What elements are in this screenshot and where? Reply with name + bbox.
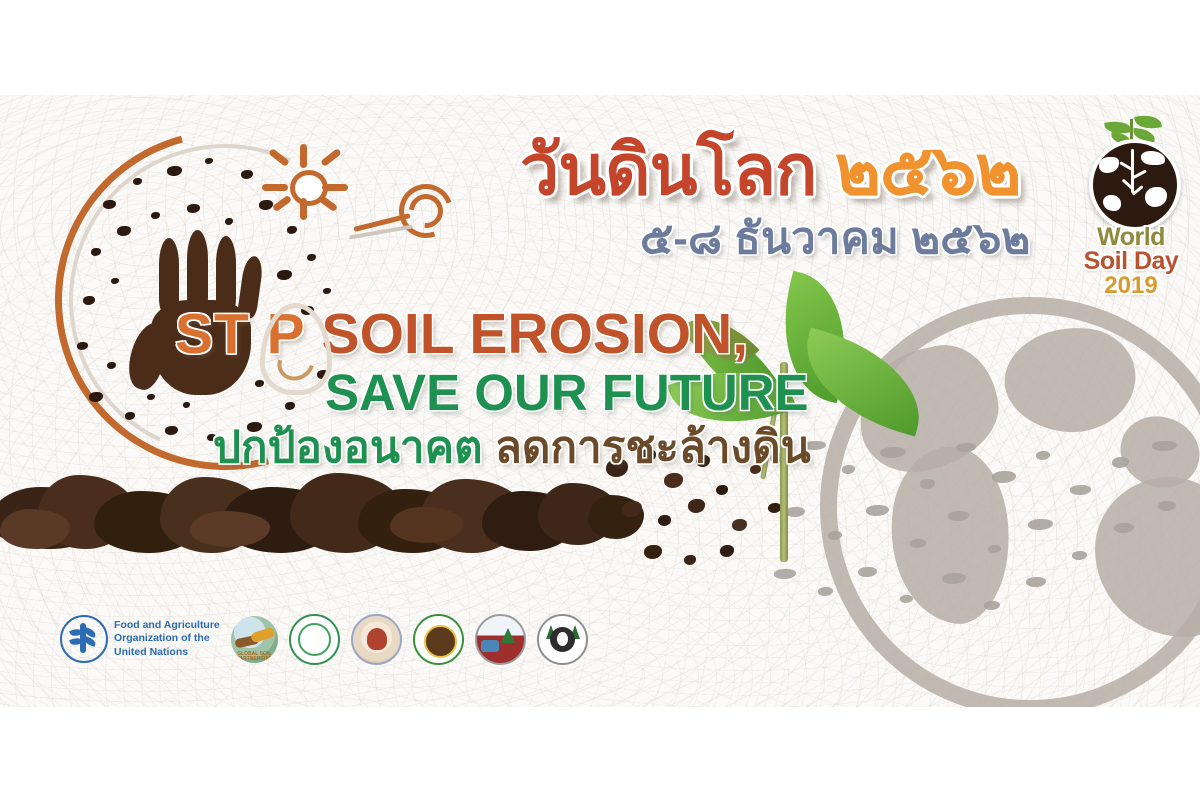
partner-logo-strip: Food and Agriculture Organization of the… <box>60 608 588 670</box>
global-soil-partnership-logo: GLOBAL SOIL PARTNERSHIP <box>231 616 278 663</box>
gsp-caption: GLOBAL SOIL PARTNERSHIP <box>231 652 278 663</box>
slogan-line-3-green: ปกป้องอนาคต <box>213 423 483 472</box>
sun-splash-icon <box>260 144 352 220</box>
slogan-line-3-brown: ลดการชะล้างดิน <box>495 423 811 472</box>
thai-title-text: วันดินโลก <box>520 131 816 209</box>
thai-main-title: วันดินโลก ๒๕๖๒ <box>520 135 1080 205</box>
slogan-line-1-rest: SOIL EROSION, <box>322 302 749 366</box>
thai-seal-forestry <box>537 614 588 665</box>
thai-seal-land-development <box>475 614 526 665</box>
world-soil-day-badge: World Soil Day 2019 <box>1075 117 1187 307</box>
thai-seal-green-gold <box>413 614 464 665</box>
thai-seal-green-ring <box>289 614 340 665</box>
wind-spiral-icon <box>355 168 451 254</box>
thai-date-line: ๕-๘ ธันวาคม ๒๕๖๒ <box>640 217 1070 261</box>
badge-word-year: 2019 <box>1075 272 1187 300</box>
thai-title-year: ๒๕๖๒ <box>835 131 1021 209</box>
slogan-line-3: ปกป้องอนาคต ลดการชะล้างดิน <box>175 425 875 471</box>
thai-seal-royal <box>351 614 402 665</box>
fao-logo-text: Food and Agriculture Organization of the… <box>114 619 220 658</box>
fao-logo: Food and Agriculture Organization of the… <box>60 615 220 663</box>
slogan-block: ST P SOIL EROSION, SAVE OUR FUTURE ปกป้อ… <box>175 305 875 471</box>
poster-canvas: วันดินโลก ๒๕๖๒ ๕-๘ ธันวาคม ๒๕๖๒ ST P SOI… <box>0 95 1200 707</box>
slogan-line-1: ST P SOIL EROSION, <box>175 305 875 363</box>
badge-earth-icon <box>1089 139 1181 231</box>
soil-band-graphic <box>0 465 690 570</box>
fao-emblem-icon <box>60 615 108 663</box>
